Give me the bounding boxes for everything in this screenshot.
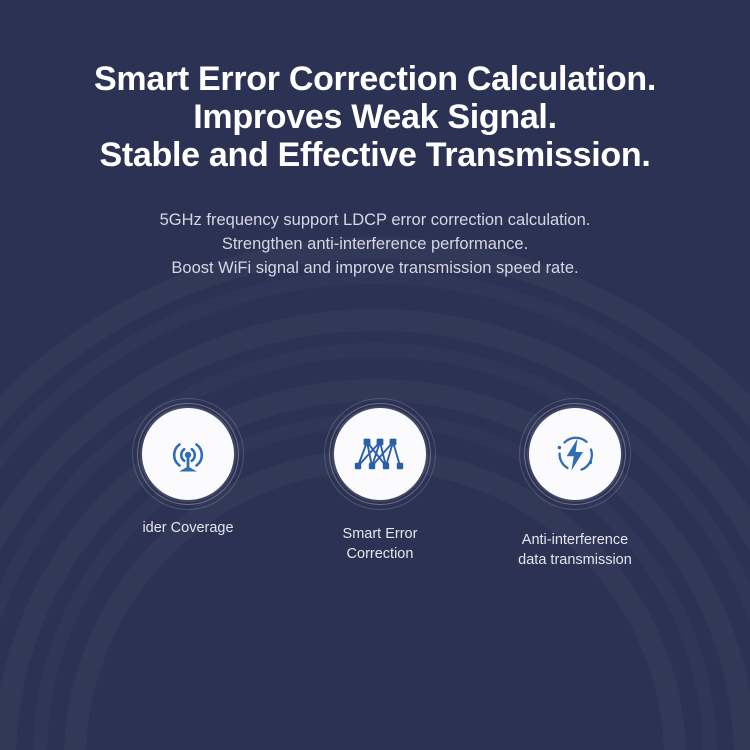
feature-caption: Smart Error Correction bbox=[280, 524, 480, 564]
feature-item-anti-interference: Anti-interference data transmission bbox=[475, 398, 675, 570]
mesh-network-icon bbox=[353, 429, 407, 479]
badge-disc bbox=[142, 408, 234, 500]
badge-disc bbox=[529, 408, 621, 500]
lightning-bolt-icon bbox=[548, 427, 602, 481]
feature-caption-line-2: Correction bbox=[280, 544, 480, 564]
feature-caption-line-1: Smart Error bbox=[280, 524, 480, 544]
headline-line-3: Stable and Effective Transmission. bbox=[0, 136, 750, 174]
feature-caption-line-1: Anti-interference bbox=[475, 530, 675, 550]
feature-item-error-correction: Smart Error Correction bbox=[280, 398, 480, 564]
feature-caption-line-2: data transmission bbox=[475, 550, 675, 570]
badge-disc bbox=[334, 408, 426, 500]
subtitle-paragraph: 5GHz frequency support LDCP error correc… bbox=[0, 208, 750, 280]
feature-list: ider Coverage bbox=[0, 398, 750, 578]
feature-caption: ider Coverage bbox=[88, 518, 288, 538]
feature-icon-badge bbox=[324, 398, 436, 510]
promo-banner: Smart Error Correction Calculation. Impr… bbox=[0, 0, 750, 750]
headline-line-2: Improves Weak Signal. bbox=[0, 98, 750, 136]
subtitle-line-1: 5GHz frequency support LDCP error correc… bbox=[0, 208, 750, 232]
subtitle-line-2: Strengthen anti-interference performance… bbox=[0, 232, 750, 256]
broadcast-tower-icon bbox=[161, 427, 215, 481]
feature-caption: Anti-interference data transmission bbox=[475, 530, 675, 570]
page-title: Smart Error Correction Calculation. Impr… bbox=[0, 60, 750, 174]
subtitle-line-3: Boost WiFi signal and improve transmissi… bbox=[0, 256, 750, 280]
feature-icon-badge bbox=[132, 398, 244, 510]
feature-caption-line-1: ider Coverage bbox=[88, 518, 288, 538]
feature-item-coverage: ider Coverage bbox=[88, 398, 288, 538]
feature-icon-badge bbox=[519, 398, 631, 510]
headline-line-1: Smart Error Correction Calculation. bbox=[0, 60, 750, 98]
